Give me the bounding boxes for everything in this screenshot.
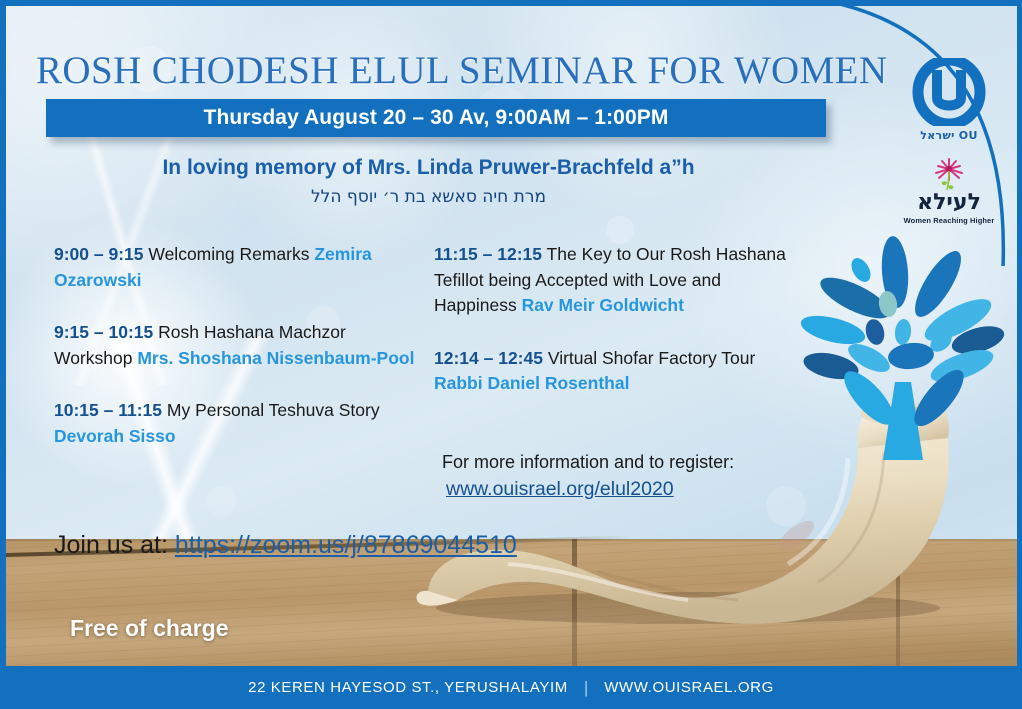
registration-link[interactable]: www.ouisrael.org/elul2020 bbox=[446, 478, 674, 501]
blue-tree-graphic-icon bbox=[795, 232, 1011, 477]
session-speaker: Rav Meir Goldwicht bbox=[522, 295, 684, 315]
date-banner-text: Thursday August 20 – 30 Av, 9:00AM – 1:0… bbox=[204, 106, 669, 130]
session-speaker: Devorah Sisso bbox=[54, 426, 176, 446]
schedule-item: 11:15 – 12:15 The Key to Our Rosh Hashan… bbox=[434, 242, 806, 319]
ou-logo-text: OU ישראל bbox=[903, 129, 995, 142]
schedule-column-right: 11:15 – 12:15 The Key to Our Rosh Hashan… bbox=[434, 242, 806, 424]
join-line: Join us at: https://zoom.us/j/8786904451… bbox=[54, 531, 517, 560]
ou-israel-logo: OU ישראל bbox=[903, 58, 995, 148]
schedule-item: 9:00 – 9:15 Welcoming Remarks Zemira Oza… bbox=[54, 242, 426, 293]
bokeh-circle bbox=[606, 216, 634, 244]
footer-bar: 22 KEREN HAYESOD ST., YERUSHALAYIM | WWW… bbox=[0, 666, 1022, 709]
session-time: 12:14 – 12:45 bbox=[434, 348, 543, 368]
join-label: Join us at: bbox=[54, 531, 168, 559]
memorial-dedication-english: In loving memory of Mrs. Linda Pruwer-Br… bbox=[6, 156, 851, 180]
footer-website: WWW.OUISRAEL.ORG bbox=[604, 679, 774, 696]
layla-logo: לעילא Women Reaching Higher bbox=[899, 158, 999, 225]
session-speaker: Mrs. Shoshana Nissenbaum-Pool bbox=[137, 348, 414, 368]
flower-icon bbox=[926, 158, 972, 192]
session-topic: Virtual Shofar Factory Tour bbox=[543, 348, 755, 368]
background-stage: ROSH CHODESH ELUL SEMINAR FOR WOMEN Thur… bbox=[6, 6, 1017, 672]
bokeh-circle bbox=[206, 486, 236, 516]
schedule-item: 10:15 – 11:15 My Personal Teshuva Story … bbox=[54, 398, 426, 449]
schedule-column-left: 9:00 – 9:15 Welcoming Remarks Zemira Oza… bbox=[54, 242, 426, 476]
session-time: 9:15 – 10:15 bbox=[54, 322, 153, 342]
zoom-meeting-link[interactable]: https://zoom.us/j/87869044510 bbox=[175, 531, 517, 559]
footer-address: 22 KEREN HAYESOD ST., YERUSHALAYIM bbox=[248, 679, 568, 696]
session-topic: Welcoming Remarks bbox=[144, 244, 315, 264]
flyer-poster: ROSH CHODESH ELUL SEMINAR FOR WOMEN Thur… bbox=[0, 0, 1022, 709]
layla-tagline-text: Women Reaching Higher bbox=[899, 216, 999, 225]
session-time: 9:00 – 9:15 bbox=[54, 244, 144, 264]
price-text: Free of charge bbox=[70, 615, 229, 642]
footer-separator: | bbox=[584, 678, 588, 698]
date-banner: Thursday August 20 – 30 Av, 9:00AM – 1:0… bbox=[46, 99, 826, 137]
layla-hebrew-text: לעילא bbox=[899, 192, 999, 214]
session-time: 10:15 – 11:15 bbox=[54, 400, 162, 420]
schedule-item: 12:14 – 12:45 Virtual Shofar Factory Tou… bbox=[434, 346, 806, 397]
session-speaker: Rabbi Daniel Rosenthal bbox=[434, 373, 629, 393]
session-time: 11:15 – 12:15 bbox=[434, 244, 542, 264]
schedule-item: 9:15 – 10:15 Rosh Hashana Machzor Worksh… bbox=[54, 320, 426, 371]
ou-emblem-icon bbox=[910, 58, 988, 126]
wood-plank-seam bbox=[896, 539, 900, 672]
registration-label: For more information and to register: bbox=[442, 449, 802, 476]
memorial-dedication-hebrew: מרת חיה סאשא בת ר׳ יוסף הלל bbox=[6, 187, 851, 207]
registration-block: For more information and to register: ww… bbox=[442, 449, 802, 501]
session-topic: My Personal Teshuva Story bbox=[162, 400, 380, 420]
page-title: ROSH CHODESH ELUL SEMINAR FOR WOMEN bbox=[36, 48, 916, 93]
